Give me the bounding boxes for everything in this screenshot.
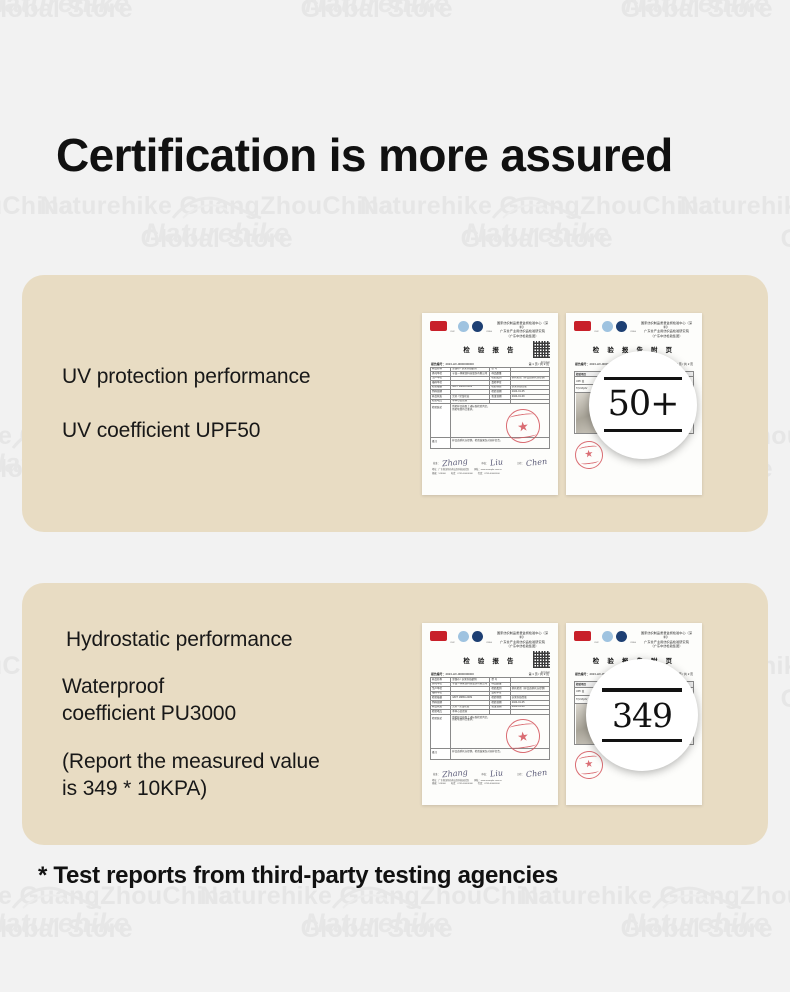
card-hydro-documents: CMC CNAS 国家纺织制品质量监督检验中心（深圳） 广东省产业用纺织品检验研… — [422, 623, 768, 805]
cnas-logo-icon — [616, 631, 627, 642]
remark-text: 样品由委托方提供，检验结果仅对来样负责。 — [451, 748, 550, 759]
certificate-document-hydro-report[interactable]: CMC CNAS 国家纺织制品质量监督检验中心（深圳） 广东省产业用纺织品检验研… — [422, 623, 558, 805]
signature-caption-inspector: 主检： — [517, 772, 524, 777]
issuer-line-3: （广东中纺检验集团） — [639, 644, 694, 648]
signature-group-inspector: 主检： Chen — [517, 770, 547, 777]
signature-ink-approver: Zhang — [442, 768, 468, 778]
document-title: 检 验 报 告 — [463, 345, 516, 354]
cmc-logo-icon — [430, 631, 447, 641]
card-uv-heading: UV protection performance — [62, 363, 422, 390]
qr-code-icon — [533, 341, 550, 358]
page-root: Certification is more assured UV protect… — [0, 0, 790, 992]
signature-group-inspector: 主检： Chen — [517, 459, 547, 466]
cmc-logo-icon — [430, 321, 447, 331]
cnas-logo-caption: CNAS — [486, 642, 492, 645]
card-hydro-detail: Waterproof coefficient PU3000 — [62, 673, 422, 728]
cmc-logo-caption: CMC — [594, 642, 599, 645]
cma-logo-icon — [602, 631, 613, 642]
document-title: 检 验 报 告 — [463, 656, 516, 665]
lens-bottom-rule — [604, 429, 682, 432]
accreditation-logo-strip: CMC CNAS 国家纺织制品质量监督检验中心（深圳） 广东省产业用纺织品检验研… — [430, 630, 550, 645]
fineprint-fax: 传真：0755-00000000 — [478, 473, 500, 476]
cnas-logo-icon — [472, 631, 483, 642]
signature-group-reviewer: 审核： Liu — [481, 459, 503, 466]
document-issuer-header: 国家纺织制品质量监督检验中心（深圳） 广东省产业用纺织品检验研究院 （广东中纺检… — [639, 320, 694, 339]
stamp-star-icon: ★ — [516, 418, 529, 432]
card-uv-detail: UV coefficient UPF50 — [62, 417, 422, 444]
certificate-document-uv-report[interactable]: CMC CNAS 国家纺织制品质量监督检验中心（深圳） 广东省产业用纺织品检验研… — [422, 313, 558, 495]
accreditation-logo-strip: CMC CNAS 国家纺织制品质量监督检验中心（深圳） 广东省产业用纺织品检验研… — [574, 320, 694, 335]
signature-group-approver: 批准： Zhang — [433, 770, 468, 777]
certificate-document-hydro-result[interactable]: CMC CNAS 国家纺织制品质量监督检验中心（深圳） 广东省产业用纺织品检验研… — [566, 623, 702, 805]
signature-ink-reviewer: Liu — [490, 458, 504, 467]
signature-ink-reviewer: Liu — [490, 769, 504, 778]
certificate-document-uv-result[interactable]: CMC CNAS 国家纺织制品质量监督检验中心（深圳） 广东省产业用纺织品检验研… — [566, 313, 702, 495]
lens-value-upf: 50+ — [608, 387, 679, 422]
certification-card-uv: UV protection performance UV coefficient… — [22, 275, 768, 532]
certification-card-hydrostatic: Hydrostatic performance Waterproof coeff… — [22, 583, 768, 845]
fineprint-phone: 电话：0755-00000000 — [451, 783, 473, 786]
document-issuer-header: 国家纺织制品质量监督检验中心（深圳） 广东省产业用纺织品检验研究院 （广东中纺检… — [495, 320, 550, 339]
accreditation-logo-strip: CMC CNAS 国家纺织制品质量监督检验中心（深圳） 广东省产业用纺织品检验研… — [574, 630, 694, 645]
remark-text: 样品由委托方提供，检验结果仅对来样负责。 — [451, 438, 550, 449]
qr-code-caption: 报告编号 — [541, 670, 550, 674]
cnas-logo-caption: CNAS — [630, 642, 636, 645]
stamp-star-icon: ★ — [584, 449, 594, 460]
issuer-line-3: （广东中纺检验集团） — [495, 644, 550, 648]
document-issuer-header: 国家纺织制品质量监督检验中心（深圳） 广东省产业用纺织品检验研究院 （广东中纺检… — [639, 630, 694, 649]
magnifier-lens-upf: 50+ — [589, 351, 697, 459]
footer-note: * Test reports from third-party testing … — [38, 862, 558, 890]
report-number-label: 报告编号：2023-HX-0000000000 — [431, 362, 474, 366]
card-uv-documents: CMC CNAS 国家纺织制品质量监督检验中心（深圳） 广东省产业用纺织品检验研… — [422, 313, 768, 495]
conclusion-label: 检验结论 — [431, 404, 451, 438]
qr-code-caption: 报告编号 — [541, 360, 550, 364]
signature-group-approver: 批准： Zhang — [433, 459, 468, 466]
magnifier-lens-hydrostatic: 349 — [586, 659, 698, 771]
signature-caption-approver: 批准： — [433, 772, 440, 777]
cma-logo-icon — [458, 321, 469, 332]
signature-caption-reviewer: 审核： — [481, 772, 488, 777]
cnas-logo-caption: CNAS — [486, 331, 492, 334]
issuer-line-3: （广东中纺检验集团） — [495, 334, 550, 338]
card-hydro-note: (Report the measured value is 349 * 10KP… — [62, 748, 422, 803]
accreditation-logo-strip: CMC CNAS 国家纺织制品质量监督检验中心（深圳） 广东省产业用纺织品检验研… — [430, 320, 550, 335]
lens-bottom-rule — [602, 739, 683, 742]
fineprint-postcode: 邮编：518000 — [432, 783, 446, 786]
lens-value-hydrostatic: 349 — [612, 699, 672, 732]
stamp-star-icon: ★ — [516, 729, 529, 743]
cma-logo-icon — [458, 631, 469, 642]
qr-code-icon — [533, 651, 550, 668]
cmc-logo-caption: CMC — [450, 331, 455, 334]
page-title: Certification is more assured — [56, 128, 673, 182]
issuer-line-3: （广东中纺检验集团） — [639, 334, 694, 338]
signature-caption-reviewer: 审核： — [481, 461, 488, 466]
signature-caption-approver: 批准： — [433, 461, 440, 466]
report-number-label: 报告编号：2023-HX-0000000000 — [431, 672, 474, 676]
signature-ink-inspector: Chen — [526, 768, 548, 777]
cmc-logo-caption: CMC — [450, 642, 455, 645]
document-fineprint: 地址：广东省深圳市南山区科技园北区 网址：www.example.com.cn … — [430, 469, 550, 476]
document-issuer-header: 国家纺织制品质量监督检验中心（深圳） 广东省产业用纺织品检验研究院 （广东中纺检… — [495, 630, 550, 649]
remark-label: 备注 — [431, 438, 451, 449]
fineprint-postcode: 邮编：518000 — [432, 473, 446, 476]
fineprint-phone: 电话：0755-00000000 — [451, 473, 473, 476]
signature-band: 批准： Zhang 审核： Liu 主检： Chen — [430, 764, 550, 777]
fineprint-fax: 传真：0755-00000000 — [478, 783, 500, 786]
issuer-line-1: 国家纺织制品质量监督检验中心（深圳） — [495, 631, 550, 640]
signature-group-reviewer: 审核： Liu — [481, 770, 503, 777]
signature-ink-approver: Zhang — [442, 458, 468, 468]
signature-ink-inspector: Chen — [526, 458, 548, 467]
cnas-logo-icon — [616, 321, 627, 332]
stamp-star-icon: ★ — [584, 759, 594, 770]
cnas-logo-caption: CNAS — [630, 331, 636, 334]
card-hydro-heading: Hydrostatic performance — [62, 626, 422, 653]
cma-logo-icon — [602, 321, 613, 332]
remark-label: 备注 — [431, 748, 451, 759]
conclusion-label: 检验结论 — [431, 714, 451, 748]
cmc-logo-icon — [574, 321, 591, 331]
cmc-logo-caption: CMC — [594, 331, 599, 334]
document-fineprint: 地址：广东省深圳市南山区科技园北区 网址：www.example.com.cn … — [430, 780, 550, 787]
signature-caption-inspector: 主检： — [517, 461, 524, 466]
cmc-logo-icon — [574, 631, 591, 641]
card-uv-text-block: UV protection performance UV coefficient… — [22, 363, 422, 445]
card-hydro-text-block: Hydrostatic performance Waterproof coeff… — [22, 626, 422, 802]
signature-band: 批准： Zhang 审核： Liu 主检： Chen — [430, 453, 550, 466]
issuer-line-1: 国家纺织制品质量监督检验中心（深圳） — [639, 631, 694, 640]
cnas-logo-icon — [472, 321, 483, 332]
lens-top-rule — [604, 377, 682, 380]
lens-top-rule — [602, 688, 683, 691]
